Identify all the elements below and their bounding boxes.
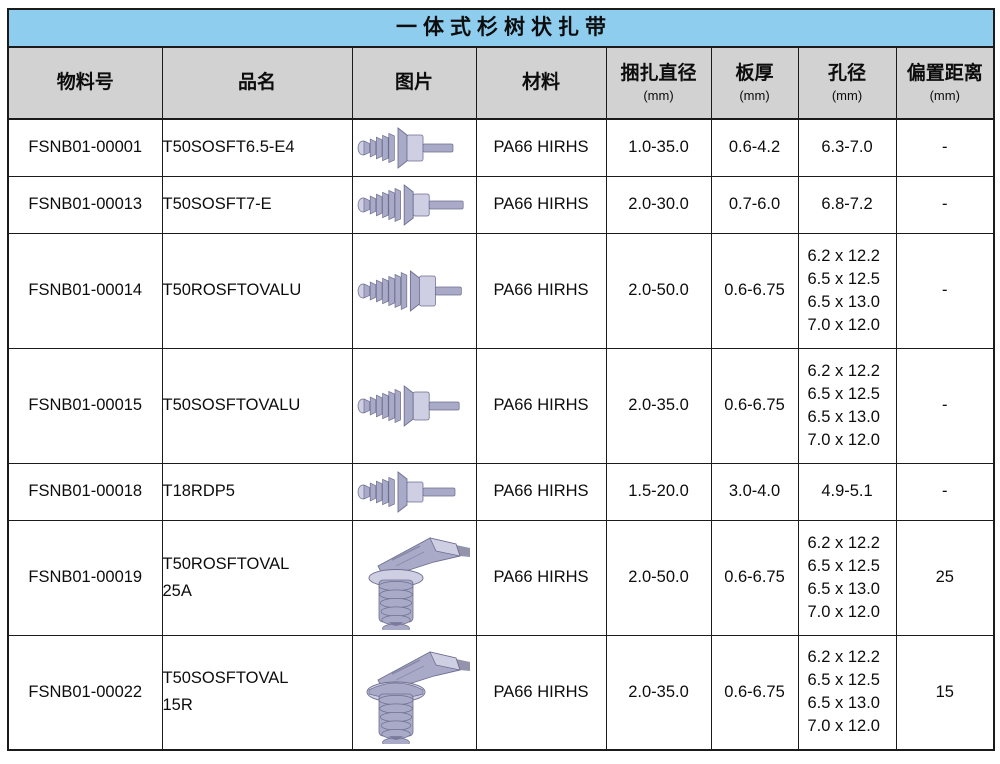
table-row[interactable]: FSNB01-00001 T50SOSFT6.5-E4 PA66 HIRHS 1… xyxy=(8,119,994,176)
product-illustration-svg xyxy=(356,526,472,630)
product-name-line: T50SOSFTOVAL xyxy=(163,665,352,692)
product-name-line: T50ROSFTOVALU xyxy=(163,277,352,304)
fir-tree-tie-oval-medium-icon xyxy=(353,380,476,432)
table-title-row: 一体式杉树状扎带 xyxy=(8,9,994,47)
column-header-image-label: 图片 xyxy=(353,71,476,95)
hole-dia-line: 6.2 x 12.2 xyxy=(799,245,896,268)
product-name-line: 15R xyxy=(163,692,352,719)
cell-hole-dia: 6.3-7.0 xyxy=(798,119,896,176)
cell-part-no: FSNB01-00015 xyxy=(8,348,162,463)
cell-bundle-dia: 2.0-30.0 xyxy=(606,176,711,233)
fir-tree-tie-straight-small-icon xyxy=(353,122,476,174)
cell-product-image[interactable] xyxy=(352,520,476,635)
table-title: 一体式杉树状扎带 xyxy=(9,11,993,45)
cell-hole-dia: 6.2 x 12.26.5 x 12.56.5 x 13.07.0 x 12.0 xyxy=(798,233,896,348)
table-body: FSNB01-00001 T50SOSFT6.5-E4 PA66 HIRHS 1… xyxy=(8,119,994,750)
column-header-offset-label: 偏置距离 xyxy=(897,62,994,86)
cell-offset: - xyxy=(896,119,994,176)
cell-material: PA66 HIRHS xyxy=(476,635,606,750)
product-name-line: T50ROSFTOVAL xyxy=(163,551,352,578)
cell-product-image[interactable] xyxy=(352,176,476,233)
hole-dia-line: 6.5 x 12.5 xyxy=(799,669,896,692)
product-name-line: T18RDP5 xyxy=(163,478,352,505)
cell-panel-thickness: 0.6-6.75 xyxy=(711,635,798,750)
cell-hole-dia: 6.2 x 12.26.5 x 12.56.5 x 13.07.0 x 12.0 xyxy=(798,520,896,635)
column-header-material: 材料 xyxy=(476,47,606,119)
cell-offset: 25 xyxy=(896,520,994,635)
fir-tree-tie-oval-large-icon xyxy=(353,265,476,317)
cell-panel-thickness: 0.6-4.2 xyxy=(711,119,798,176)
cell-bundle-dia: 2.0-50.0 xyxy=(606,520,711,635)
column-header-offset-unit: (mm) xyxy=(897,87,994,105)
hole-dia-line: 7.0 x 12.0 xyxy=(799,601,896,624)
column-header-hole-dia-unit: (mm) xyxy=(799,87,896,105)
product-illustration-svg xyxy=(356,466,472,518)
hole-dia-line: 6.5 x 13.0 xyxy=(799,406,896,429)
column-header-bundle-dia: 捆扎直径 (mm) xyxy=(606,47,711,119)
table-row[interactable]: FSNB01-00018 T18RDP5 PA66 HIRHS 1.5-20.0… xyxy=(8,463,994,520)
cell-hole-dia: 4.9-5.1 xyxy=(798,463,896,520)
hole-dia-line: 7.0 x 12.0 xyxy=(799,715,896,738)
hole-dia-line: 6.2 x 12.2 xyxy=(799,646,896,669)
fir-tree-tie-round-small-icon xyxy=(353,466,476,518)
cell-product-name: T50ROSFTOVAL 25A xyxy=(162,520,352,635)
table-row[interactable]: FSNB01-00013 T50SOSFT7-E PA66 HIRHS 2.0-… xyxy=(8,176,994,233)
cell-material: PA66 HIRHS xyxy=(476,463,606,520)
cell-product-image[interactable] xyxy=(352,348,476,463)
cell-part-no: FSNB01-00014 xyxy=(8,233,162,348)
cell-material: PA66 HIRHS xyxy=(476,348,606,463)
cell-offset: - xyxy=(896,348,994,463)
cell-hole-dia: 6.2 x 12.26.5 x 12.56.5 x 13.07.0 x 12.0 xyxy=(798,348,896,463)
hole-dia-line: 6.5 x 12.5 xyxy=(799,555,896,578)
product-name-line: 25A xyxy=(163,578,352,605)
cell-part-no: FSNB01-00013 xyxy=(8,176,162,233)
column-header-hole-dia: 孔径 (mm) xyxy=(798,47,896,119)
fir-tree-tie-straight-buckle-icon xyxy=(353,179,476,231)
cell-material: PA66 HIRHS xyxy=(476,119,606,176)
table-row[interactable]: FSNB01-00022 T50SOSFTOVAL 15R PA66 HIRHS… xyxy=(8,635,994,750)
product-illustration-svg xyxy=(356,179,472,231)
cell-part-no: FSNB01-00022 xyxy=(8,635,162,750)
hole-dia-line: 6.5 x 13.0 xyxy=(799,578,896,601)
cell-bundle-dia: 2.0-50.0 xyxy=(606,233,711,348)
hole-dia-line: 6.5 x 13.0 xyxy=(799,692,896,715)
product-illustration-svg xyxy=(356,640,472,744)
column-header-panel-thickness-label: 板厚 xyxy=(712,62,798,86)
cell-panel-thickness: 0.6-6.75 xyxy=(711,520,798,635)
column-header-bundle-dia-unit: (mm) xyxy=(607,87,711,105)
product-name-line: T50SOSFTOVALU xyxy=(163,392,352,419)
fir-tree-tie-offset-15-icon xyxy=(353,640,476,744)
hole-dia-line: 6.2 x 12.2 xyxy=(799,360,896,383)
cell-product-name: T50SOSFT7-E xyxy=(162,176,352,233)
column-header-offset: 偏置距离 (mm) xyxy=(896,47,994,119)
cell-part-no: FSNB01-00019 xyxy=(8,520,162,635)
cell-bundle-dia: 2.0-35.0 xyxy=(606,348,711,463)
hole-dia-line: 7.0 x 12.0 xyxy=(799,314,896,337)
hole-dia-line: 6.2 x 12.2 xyxy=(799,532,896,555)
column-header-part-no: 物料号 xyxy=(8,47,162,119)
column-header-part-no-label: 物料号 xyxy=(9,71,162,95)
cell-panel-thickness: 0.6-6.75 xyxy=(711,233,798,348)
cell-offset: - xyxy=(896,176,994,233)
cell-offset: 15 xyxy=(896,635,994,750)
cell-panel-thickness: 3.0-4.0 xyxy=(711,463,798,520)
product-name-line: T50SOSFT6.5-E4 xyxy=(163,134,352,161)
column-header-panel-thickness: 板厚 (mm) xyxy=(711,47,798,119)
product-illustration-svg xyxy=(356,122,472,174)
cell-offset: - xyxy=(896,463,994,520)
table-row[interactable]: FSNB01-00014 T50ROSFTOVALU PA66 HIRHS 2.… xyxy=(8,233,994,348)
cell-offset: - xyxy=(896,233,994,348)
cell-product-image[interactable] xyxy=(352,463,476,520)
cell-hole-dia: 6.8-7.2 xyxy=(798,176,896,233)
hole-dia-line: 6.5 x 12.5 xyxy=(799,268,896,291)
column-header-hole-dia-label: 孔径 xyxy=(799,62,896,86)
column-header-panel-thickness-unit: (mm) xyxy=(712,87,798,105)
column-header-product-name-label: 品名 xyxy=(163,71,352,95)
cell-product-image[interactable] xyxy=(352,119,476,176)
cell-part-no: FSNB01-00001 xyxy=(8,119,162,176)
column-header-image: 图片 xyxy=(352,47,476,119)
hole-dia-line: 6.5 x 12.5 xyxy=(799,383,896,406)
cell-product-name: T50SOSFTOVAL 15R xyxy=(162,635,352,750)
cell-product-image[interactable] xyxy=(352,635,476,750)
cell-material: PA66 HIRHS xyxy=(476,176,606,233)
cell-bundle-dia: 2.0-35.0 xyxy=(606,635,711,750)
cell-product-name: T50SOSFT6.5-E4 xyxy=(162,119,352,176)
cell-product-name: T18RDP5 xyxy=(162,463,352,520)
cell-bundle-dia: 1.0-35.0 xyxy=(606,119,711,176)
table-title-cell: 一体式杉树状扎带 xyxy=(8,9,994,47)
column-header-product-name: 品名 xyxy=(162,47,352,119)
cell-hole-dia: 6.2 x 12.26.5 x 12.56.5 x 13.07.0 x 12.0 xyxy=(798,635,896,750)
hole-dia-line: 7.0 x 12.0 xyxy=(799,429,896,452)
cell-part-no: FSNB01-00018 xyxy=(8,463,162,520)
cell-product-name: T50ROSFTOVALU xyxy=(162,233,352,348)
cell-material: PA66 HIRHS xyxy=(476,233,606,348)
hole-dia-line: 6.5 x 13.0 xyxy=(799,291,896,314)
cell-panel-thickness: 0.6-6.75 xyxy=(711,348,798,463)
table-header-row: 物料号 品名 图片 材料 捆扎直径 (mm) 板厚 (mm) 孔径 (mm) xyxy=(8,47,994,119)
spec-sheet: 一体式杉树状扎带 物料号 品名 图片 材料 捆扎直径 (mm) 板厚 (mm) xyxy=(0,0,1000,764)
cell-material: PA66 HIRHS xyxy=(476,520,606,635)
column-header-material-label: 材料 xyxy=(477,71,606,95)
cell-bundle-dia: 1.5-20.0 xyxy=(606,463,711,520)
column-header-bundle-dia-label: 捆扎直径 xyxy=(607,62,711,86)
fir-tree-tie-offset-25-icon xyxy=(353,526,476,630)
table-row[interactable]: FSNB01-00015 T50SOSFTOVALU PA66 HIRHS 2.… xyxy=(8,348,994,463)
table-row[interactable]: FSNB01-00019 T50ROSFTOVAL 25A PA66 HIRHS… xyxy=(8,520,994,635)
product-illustration-svg xyxy=(356,265,472,317)
cell-panel-thickness: 0.7-6.0 xyxy=(711,176,798,233)
product-illustration-svg xyxy=(356,380,472,432)
cell-product-name: T50SOSFTOVALU xyxy=(162,348,352,463)
cell-product-image[interactable] xyxy=(352,233,476,348)
product-name-line: T50SOSFT7-E xyxy=(163,191,352,218)
product-spec-table: 一体式杉树状扎带 物料号 品名 图片 材料 捆扎直径 (mm) 板厚 (mm) xyxy=(7,8,995,751)
